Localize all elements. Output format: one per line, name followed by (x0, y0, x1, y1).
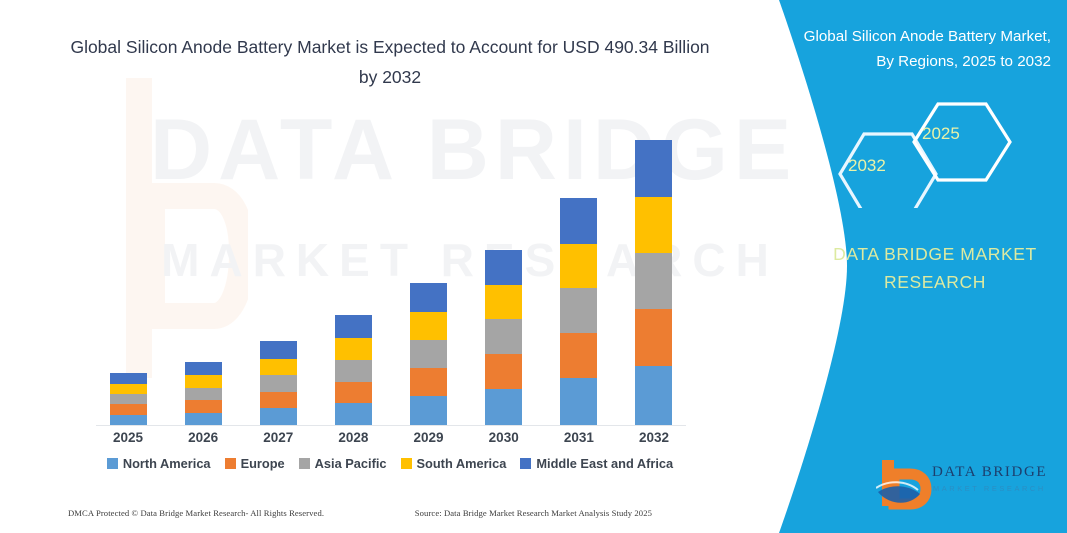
bar-segment[interactable] (485, 250, 522, 285)
footer-bar: DMCA Protected © Data Bridge Market Rese… (0, 508, 720, 518)
chart-main-title: Global Silicon Anode Battery Market is E… (60, 32, 720, 92)
bar-segment[interactable] (335, 315, 372, 338)
bar-column (547, 120, 611, 425)
bar-segment[interactable] (110, 415, 147, 425)
bar-segment[interactable] (185, 375, 222, 387)
footer-copyright: DMCA Protected © Data Bridge Market Rese… (68, 508, 324, 518)
x-axis-tick-2026: 2026 (171, 430, 235, 445)
bar-segment[interactable] (110, 373, 147, 383)
legend-label: Asia Pacific (315, 456, 387, 471)
hexagon-outlines-icon (818, 96, 1048, 208)
stacked-bar[interactable] (410, 283, 447, 425)
brand-name-line-2: RESEARCH (800, 268, 1067, 296)
stacked-bar[interactable] (260, 341, 297, 425)
chart-plot-area (96, 120, 686, 426)
bar-segment[interactable] (185, 388, 222, 400)
bar-column (246, 120, 310, 425)
bar-column (622, 120, 686, 425)
bar-segment[interactable] (560, 378, 597, 425)
right-panel-title: Global Silicon Anode Battery Market, By … (726, 24, 1051, 74)
right-panel-title-line-2: By Regions, 2025 to 2032 (726, 49, 1051, 74)
x-axis-tick-2031: 2031 (547, 430, 611, 445)
stacked-bar[interactable] (635, 140, 672, 425)
bar-segment[interactable] (560, 244, 597, 289)
bar-segment[interactable] (335, 360, 372, 382)
bar-segment[interactable] (410, 396, 447, 425)
bar-segment[interactable] (335, 382, 372, 404)
legend-item[interactable]: Europe (225, 456, 285, 471)
x-axis-tick-2030: 2030 (472, 430, 536, 445)
bar-segment[interactable] (560, 198, 597, 244)
bar-segment[interactable] (335, 338, 372, 360)
stacked-bar[interactable] (110, 373, 147, 425)
bar-segment[interactable] (410, 312, 447, 340)
bar-segment[interactable] (110, 404, 147, 414)
bar-segment[interactable] (410, 340, 447, 368)
x-axis-tick-2032: 2032 (622, 430, 686, 445)
bar-segment[interactable] (260, 408, 297, 425)
bar-column (96, 120, 160, 425)
bar-column (397, 120, 461, 425)
stacked-bar[interactable] (560, 198, 597, 425)
bar-segment[interactable] (260, 359, 297, 376)
bar-column (321, 120, 385, 425)
legend-label: North America (123, 456, 211, 471)
stacked-bar[interactable] (335, 315, 372, 425)
bar-segment[interactable] (635, 197, 672, 253)
logo-wordmark: DATA BRIDGE (932, 464, 1047, 481)
legend-swatch-icon (107, 458, 118, 469)
legend-swatch-icon (225, 458, 236, 469)
x-axis-tick-2027: 2027 (246, 430, 310, 445)
bar-segment[interactable] (410, 283, 447, 312)
infographic-root: DATA BRIDGE MARKET RESEARCH Global Silic… (0, 0, 1067, 533)
hexagon-label-end-year: 2025 (922, 124, 960, 144)
bar-segment[interactable] (410, 368, 447, 396)
bar-segment[interactable] (185, 362, 222, 375)
bar-segment[interactable] (560, 333, 597, 379)
x-axis-tick-2028: 2028 (321, 430, 385, 445)
bar-segment[interactable] (635, 140, 672, 197)
bar-segment[interactable] (635, 309, 672, 366)
bar-segment[interactable] (485, 389, 522, 425)
legend-label: South America (417, 456, 507, 471)
bar-segment[interactable] (635, 366, 672, 425)
bar-segment[interactable] (110, 394, 147, 404)
bar-segment[interactable] (110, 384, 147, 394)
legend-label: Middle East and Africa (536, 456, 673, 471)
legend-swatch-icon (401, 458, 412, 469)
bar-segment[interactable] (485, 285, 522, 319)
legend-item[interactable]: North America (107, 456, 211, 471)
bar-segment[interactable] (335, 403, 372, 425)
legend-swatch-icon (520, 458, 531, 469)
x-axis-tick-2029: 2029 (397, 430, 461, 445)
brand-name-line-1: DATA BRIDGE MARKET (800, 240, 1067, 268)
stacked-bar-chart (96, 120, 686, 428)
brand-name-text: DATA BRIDGE MARKET RESEARCH (800, 240, 1067, 296)
stacked-bar[interactable] (485, 250, 522, 425)
bar-column (171, 120, 235, 425)
legend-item[interactable]: Middle East and Africa (520, 456, 673, 471)
x-axis-tick-2025: 2025 (96, 430, 160, 445)
right-panel-title-line-1: Global Silicon Anode Battery Market, (726, 24, 1051, 49)
footer-source: Source: Data Bridge Market Research Mark… (415, 508, 652, 518)
legend-item[interactable]: Asia Pacific (299, 456, 387, 471)
chart-legend: North AmericaEuropeAsia PacificSouth Ame… (60, 456, 720, 471)
x-axis-tick-labels: 20252026202720282029203020312032 (96, 430, 686, 445)
left-panel: DATA BRIDGE MARKET RESEARCH Global Silic… (0, 0, 720, 533)
bar-segment[interactable] (260, 392, 297, 409)
bar-segment[interactable] (185, 413, 222, 425)
stacked-bar[interactable] (185, 362, 222, 425)
bar-segment[interactable] (260, 341, 297, 359)
bar-segment[interactable] (635, 253, 672, 309)
legend-swatch-icon (299, 458, 310, 469)
bar-column (472, 120, 536, 425)
legend-item[interactable]: South America (401, 456, 507, 471)
bar-segment[interactable] (485, 354, 522, 389)
data-bridge-logo: DATA BRIDGE MARKET RESEARCH (876, 458, 1056, 510)
legend-label: Europe (241, 456, 285, 471)
hexagon-label-start-year: 2032 (848, 156, 886, 176)
bar-segment[interactable] (185, 400, 222, 412)
bar-segment[interactable] (260, 375, 297, 392)
bar-segment[interactable] (485, 319, 522, 353)
logo-subtitle: MARKET RESEARCH (933, 484, 1046, 493)
bar-segment[interactable] (560, 288, 597, 333)
hexagon-group: 2032 2025 (818, 96, 1048, 208)
